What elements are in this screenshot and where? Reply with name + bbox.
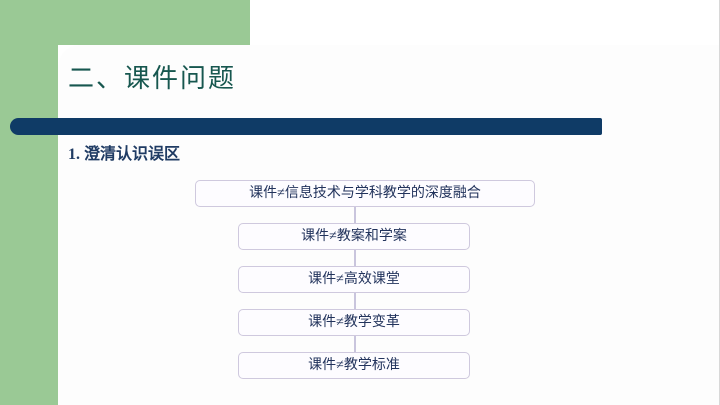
left-green-panel xyxy=(0,0,58,405)
top-green-block xyxy=(0,0,250,45)
subsection-heading: 1. 澄清认识误区 xyxy=(68,144,180,166)
diagram-node: 课件≠教案和学案 xyxy=(238,223,470,250)
presentation-slide: 二、课件问题 1. 澄清认识误区 课件≠信息技术与学科教学的深度融合 课件≠教案… xyxy=(0,0,720,405)
diagram-node: 课件≠信息技术与学科教学的深度融合 xyxy=(195,180,535,207)
page-title: 二、课件问题 xyxy=(68,62,236,96)
title-underline-bar xyxy=(10,118,602,135)
diagram-node: 课件≠高效课堂 xyxy=(238,266,470,293)
concept-diagram: 课件≠信息技术与学科教学的深度融合 课件≠教案和学案 课件≠高效课堂 课件≠教学… xyxy=(195,180,535,385)
diagram-node: 课件≠教学标准 xyxy=(238,352,470,379)
diagram-node: 课件≠教学变革 xyxy=(238,309,470,336)
